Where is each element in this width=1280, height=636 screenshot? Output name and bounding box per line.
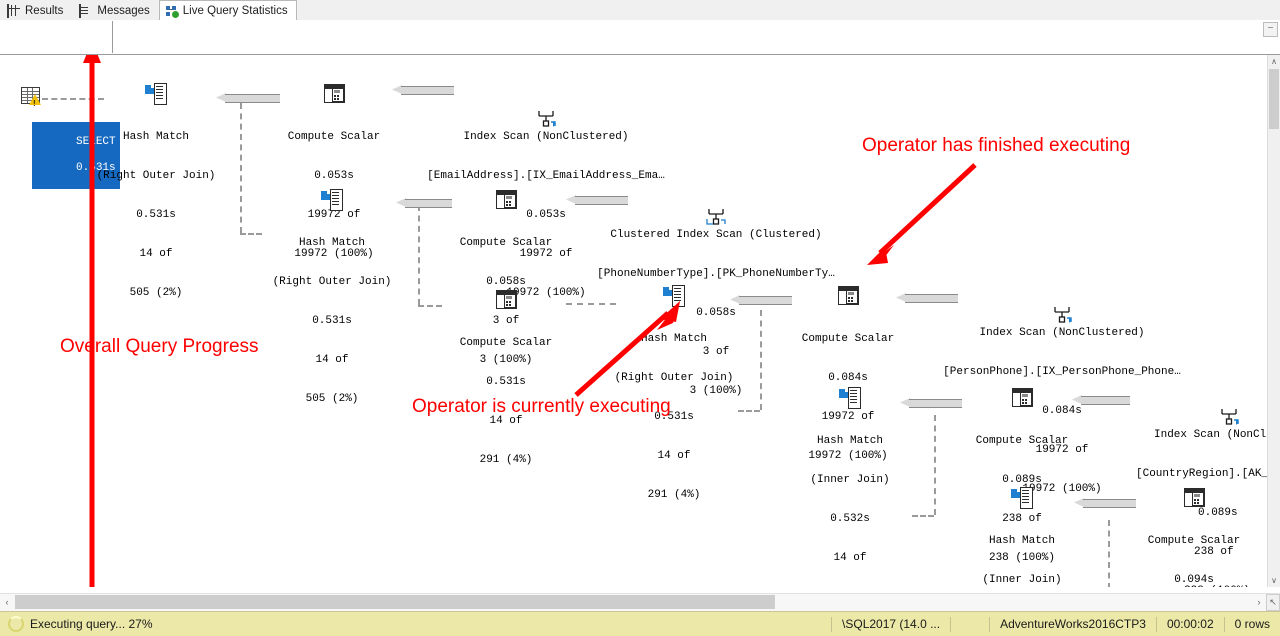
operator-name: Index Scan (NonClu — [1110, 429, 1268, 442]
compute-scalar-icon — [1183, 487, 1205, 507]
status-elapsed-time: 00:00:02 — [1156, 617, 1224, 632]
status-database: AdventureWorks2016CTP3 — [989, 617, 1156, 632]
index-scan-icon — [1051, 279, 1073, 299]
hash-match-icon — [321, 189, 343, 209]
operator-name: Compute Scalar — [446, 237, 566, 250]
connector-dash — [912, 515, 934, 517]
spinner-icon — [8, 616, 24, 632]
status-server: \SQL2017 (14.0 ... — [831, 617, 950, 632]
compute-scalar-icon — [323, 83, 345, 103]
operator-total: 291 (4%) — [614, 489, 734, 502]
vertical-scrollbar[interactable]: ∧ ∨ — [1267, 55, 1280, 587]
operator-detail: (Right Outer Join) — [96, 170, 216, 183]
query-header: Estimated query progress:27% Query 1: Qu… — [0, 20, 1280, 55]
operator-total: 505 (2%) — [96, 287, 216, 300]
operator-name: Compute Scalar — [962, 435, 1082, 448]
plan-arrow — [216, 93, 280, 102]
operator-name: Hash Match — [790, 435, 910, 448]
tab-live-query-statistics[interactable]: Live Query Statistics — [159, 0, 297, 21]
hash-match-icon — [839, 387, 861, 407]
plan-node-select[interactable]: SELECT 0.531s — [6, 61, 54, 202]
plan-node-hash-match-4[interactable]: Hash Match (Inner Join) 0.532s 14 of 291… — [790, 361, 910, 587]
operator-name: Hash Match — [962, 535, 1082, 548]
annotation-operator-finished: Operator has finished executing — [862, 135, 1130, 157]
operator-rows: 14 of — [614, 450, 734, 463]
plan-zoom-corner-button[interactable]: ↖ — [1266, 594, 1280, 611]
horizontal-scroll-thumb[interactable] — [15, 595, 775, 609]
operator-name: Compute Scalar — [274, 131, 394, 144]
index-scan-icon — [1218, 381, 1240, 401]
status-executing: Executing query... 27% — [0, 616, 153, 632]
result-grid-warning-icon — [19, 87, 41, 107]
operator-detail: (Inner Join) — [962, 574, 1082, 587]
plan-node-hash-match-1[interactable]: Hash Match (Right Outer Join) 0.531s 14 … — [96, 57, 216, 326]
operator-detail: (Inner Join) — [790, 474, 910, 487]
connector-dash — [240, 233, 262, 235]
operator-rows: 14 of — [96, 248, 216, 261]
hash-match-icon — [663, 285, 685, 305]
compute-scalar-icon — [495, 189, 517, 209]
annotation-operator-executing: Operator is currently executing — [412, 396, 671, 418]
vertical-scroll-thumb[interactable] — [1269, 69, 1279, 129]
tab-results[interactable]: Results — [0, 0, 72, 20]
live-query-statistics-icon — [166, 5, 179, 17]
compute-scalar-icon — [837, 285, 859, 305]
query-cost-text: Query 1: Query cost (relative to the bat… — [117, 21, 1267, 53]
compute-scalar-icon — [495, 289, 517, 309]
operator-time: 0.531s — [272, 315, 392, 328]
operator-total: 505 (2%) — [272, 393, 392, 406]
header-scroll-up-button[interactable]: ─ — [1263, 22, 1278, 37]
scroll-down-icon[interactable]: ∨ — [1268, 574, 1280, 587]
operator-time: 0.531s — [96, 209, 216, 222]
tab-messages[interactable]: Messages — [72, 0, 158, 20]
connector-dash — [240, 103, 242, 233]
tab-messages-label: Messages — [97, 5, 149, 17]
scroll-right-icon[interactable]: › — [1252, 594, 1266, 610]
scroll-left-icon[interactable]: ‹ — [0, 594, 14, 610]
operator-time: 0.531s — [446, 376, 566, 389]
horizontal-scrollbar[interactable]: ‹ › — [0, 593, 1280, 611]
annotation-overall-query-progress: Overall Query Progress — [60, 336, 259, 358]
status-bar: Executing query... 27% \SQL2017 (14.0 ..… — [0, 611, 1280, 636]
plan-node-compute-scalar-3[interactable]: Compute Scalar 0.531s 14 of 291 (4%) — [446, 263, 566, 493]
compute-scalar-icon — [1011, 387, 1033, 407]
scroll-up-icon[interactable]: ∧ — [1268, 55, 1280, 68]
tab-live-query-statistics-label: Live Query Statistics — [183, 5, 288, 17]
index-scan-icon — [705, 181, 727, 201]
operator-detail: (Right Outer Join) — [272, 276, 392, 289]
plan-node-hash-match-5[interactable]: Hash Match (Inner Join) 0.532s 14 of 291… — [962, 461, 1082, 587]
grid-icon — [7, 5, 21, 17]
status-executing-label: Executing query... 27% — [30, 617, 153, 631]
operator-time: 0.532s — [790, 513, 910, 526]
operator-name: Compute Scalar — [1134, 535, 1254, 548]
index-scan-icon — [535, 83, 557, 103]
tab-results-label: Results — [25, 5, 63, 17]
operator-detail: (Right Outer Join) — [614, 372, 734, 385]
status-user-cell — [950, 617, 989, 632]
operator-total: 291 (4%) — [446, 454, 566, 467]
hash-match-icon — [1011, 487, 1033, 507]
plan-node-hash-match-2[interactable]: Hash Match (Right Outer Join) 0.531s 14 … — [272, 163, 392, 432]
hash-match-icon — [145, 83, 167, 103]
operator-rows: 14 of — [790, 552, 910, 565]
plan-node-hash-match-6[interactable]: Hash Match — [1136, 561, 1256, 587]
plan-node-hash-match-3[interactable]: Hash Match (Right Outer Join) 0.531s 14 … — [614, 259, 734, 528]
operator-name: Compute Scalar — [788, 333, 908, 346]
operator-rows: 14 of — [272, 354, 392, 367]
operator-name: Hash Match — [96, 131, 216, 144]
execution-plan-canvas[interactable]: SELECT 0.531s Hash Match (Right Outer Jo… — [0, 55, 1268, 587]
operator-name: Hash Match — [614, 333, 734, 346]
operator-name: Hash Match — [272, 237, 392, 250]
operator-name: Compute Scalar — [446, 337, 566, 350]
messages-icon — [79, 5, 93, 17]
status-row-count: 0 rows — [1224, 617, 1280, 632]
estimated-query-progress: Estimated query progress:27% — [2, 21, 113, 53]
results-tabstrip: Results Messages Live Query Statistics — [0, 0, 1280, 21]
